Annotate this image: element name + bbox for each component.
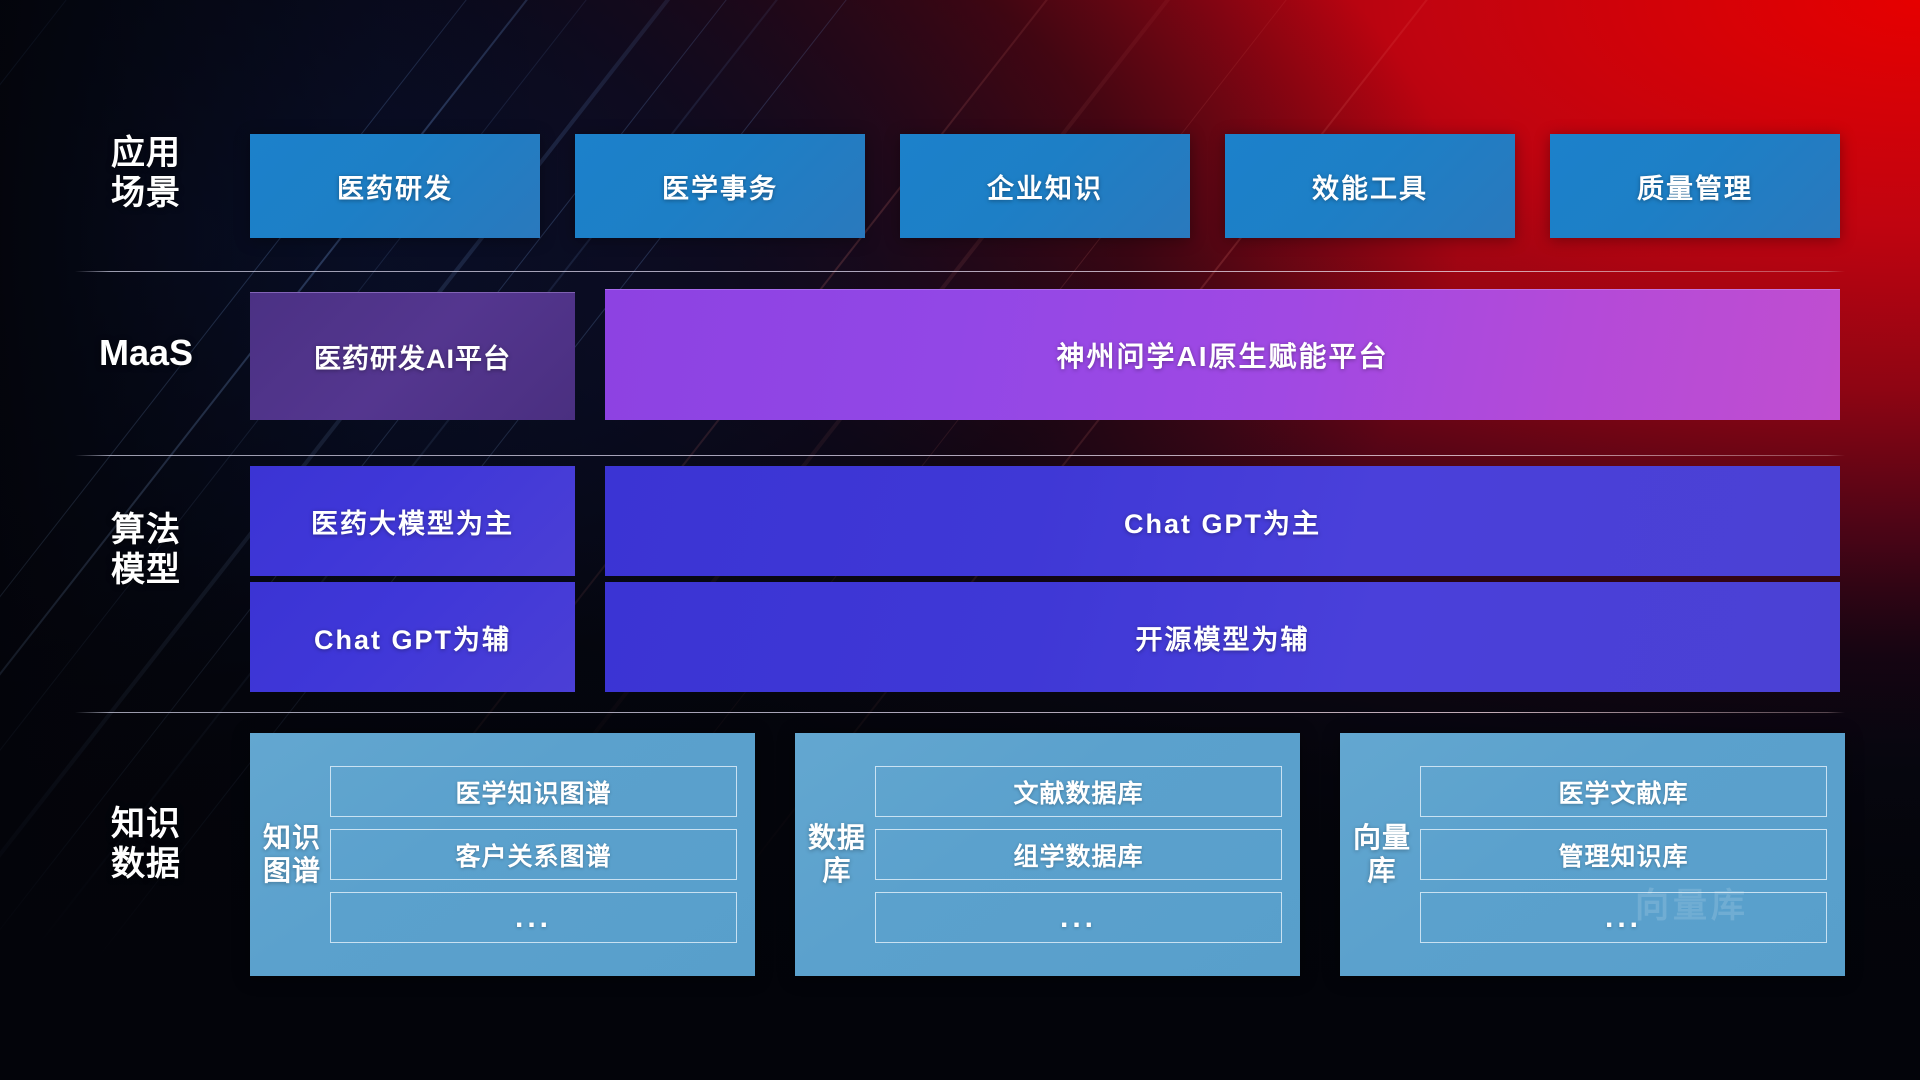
- knowledge-item-label: 管理知识库: [1558, 837, 1688, 873]
- knowledge-item-more[interactable]: ...: [330, 892, 737, 943]
- knowledge-item[interactable]: 文献数据库: [875, 766, 1282, 817]
- row-label-algorithm-model: 算法 模型: [76, 510, 216, 590]
- knowledge-item-label: 医学文献库: [1558, 774, 1688, 810]
- knowledge-item[interactable]: 组学数据库: [875, 829, 1282, 880]
- row-label-application-scenarios: 应用 场景: [76, 133, 216, 213]
- scenario-box-5[interactable]: 质量管理: [1550, 134, 1840, 238]
- algorithm-right-box-primary[interactable]: Chat GPT为主: [605, 466, 1840, 576]
- scenario-box-1[interactable]: 医药研发: [250, 134, 540, 238]
- row-label-maas: MaaS: [76, 332, 216, 374]
- knowledge-item-label: ...: [515, 912, 552, 924]
- knowledge-item-label: 文献数据库: [1013, 774, 1143, 810]
- scenario-box-4[interactable]: 效能工具: [1225, 134, 1515, 238]
- knowledge-panel-3-label: 向量库: [1340, 822, 1412, 887]
- knowledge-panel-2-items: 文献数据库 组学数据库 ...: [867, 766, 1300, 943]
- algorithm-left-box-secondary-label: Chat GPT为辅: [314, 618, 511, 657]
- knowledge-item-label: ...: [1605, 912, 1642, 924]
- knowledge-panel-1-items: 医学知识图谱 客户关系图谱 ...: [322, 766, 755, 943]
- divider-after-maas: [75, 455, 1845, 456]
- scenario-box-2-label: 医学事务: [662, 167, 778, 206]
- algorithm-right-box-secondary[interactable]: 开源模型为辅: [605, 582, 1840, 692]
- scenario-box-1-label: 医药研发: [337, 167, 453, 206]
- algorithm-left-box-secondary[interactable]: Chat GPT为辅: [250, 582, 575, 692]
- algorithm-left-box-primary[interactable]: 医药大模型为主: [250, 466, 575, 576]
- knowledge-item-label: ...: [1060, 912, 1097, 924]
- maas-right-box-label: 神州问学AI原生赋能平台: [1056, 335, 1388, 375]
- knowledge-item-label: 医学知识图谱: [455, 774, 611, 810]
- knowledge-item[interactable]: 客户关系图谱: [330, 829, 737, 880]
- algorithm-right-box-secondary-label: 开源模型为辅: [1136, 618, 1310, 657]
- knowledge-item-label: 组学数据库: [1013, 837, 1143, 873]
- maas-right-box[interactable]: 神州问学AI原生赋能平台: [605, 289, 1840, 420]
- knowledge-item[interactable]: 医学文献库: [1420, 766, 1827, 817]
- knowledge-panel-3-items: 医学文献库 管理知识库 ...: [1412, 766, 1845, 943]
- knowledge-panel-1-label: 知识图谱: [250, 822, 322, 887]
- knowledge-item[interactable]: 医学知识图谱: [330, 766, 737, 817]
- scenario-box-5-label: 质量管理: [1637, 167, 1753, 206]
- scenario-box-3-label: 企业知识: [987, 167, 1103, 206]
- divider-after-application-scenarios: [75, 271, 1845, 272]
- maas-left-box-label: 医药研发AI平台: [314, 337, 511, 376]
- knowledge-panel-database[interactable]: 数据库 文献数据库 组学数据库 ...: [795, 733, 1300, 976]
- algorithm-left-box-primary-label: 医药大模型为主: [311, 502, 514, 541]
- algorithm-right-box-primary-label: Chat GPT为主: [1124, 502, 1321, 541]
- knowledge-panel-2-label: 数据库: [795, 822, 867, 887]
- knowledge-panel-knowledge-graph[interactable]: 知识图谱 医学知识图谱 客户关系图谱 ...: [250, 733, 755, 976]
- knowledge-item-more[interactable]: ...: [875, 892, 1282, 943]
- scenario-box-3[interactable]: 企业知识: [900, 134, 1190, 238]
- knowledge-item-more[interactable]: ...: [1420, 892, 1827, 943]
- row-label-knowledge-data: 知识 数据: [76, 804, 216, 884]
- slide-canvas: 应用 场景 医药研发 医学事务 企业知识 效能工具 质量管理 MaaS 医药研发…: [0, 0, 1920, 1080]
- scenario-box-2[interactable]: 医学事务: [575, 134, 865, 238]
- maas-left-box[interactable]: 医药研发AI平台: [250, 292, 575, 420]
- knowledge-item[interactable]: 管理知识库: [1420, 829, 1827, 880]
- divider-after-algorithm-model: [75, 712, 1845, 713]
- scenario-box-4-label: 效能工具: [1312, 167, 1428, 206]
- knowledge-panel-vector-store[interactable]: 向量库 医学文献库 管理知识库 ... 向量库: [1340, 733, 1845, 976]
- knowledge-item-label: 客户关系图谱: [455, 837, 611, 873]
